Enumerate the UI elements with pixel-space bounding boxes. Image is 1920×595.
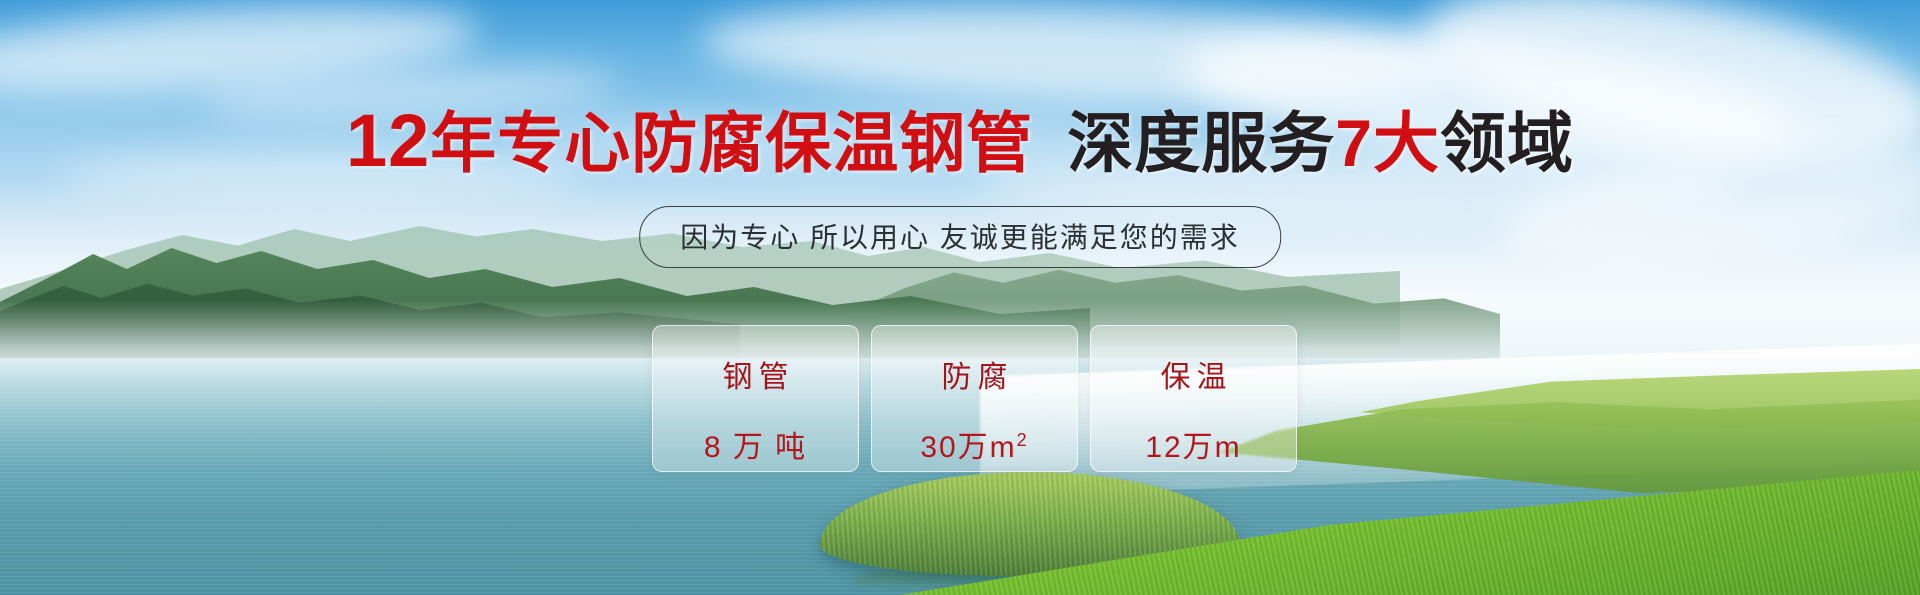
stat-cards: 钢管 8 万 吨 防腐 30万m2 保温 12万m: [652, 325, 1297, 472]
stat-card-title: 保温: [1155, 352, 1233, 396]
stat-card-value-exponent: 2: [1017, 430, 1029, 450]
headline-part1: 年专心防腐保温钢管: [430, 106, 1033, 180]
stat-card-anticorrosion[interactable]: 防腐 30万m2: [871, 325, 1078, 472]
stat-card-title: 钢管: [717, 352, 795, 396]
headline-years-number: 12: [346, 99, 430, 182]
stat-card-value: 8 万 吨: [704, 422, 807, 466]
promo-banner: 12年专心防腐保温钢管深度服务7大领域 因为专心 所以用心 友诚更能满足您的需求…: [0, 0, 1920, 595]
headline: 12年专心防腐保温钢管深度服务7大领域: [0, 90, 1920, 186]
headline-part2: 深度服务: [1067, 106, 1335, 180]
headline-part3: 领域: [1440, 106, 1574, 180]
stat-card-title: 防腐: [936, 352, 1014, 396]
stat-card-insulation[interactable]: 保温 12万m: [1090, 325, 1297, 472]
stat-card-value: 12万m: [1145, 422, 1241, 466]
headline-highlight: 7大: [1335, 106, 1440, 180]
stat-card-value-text: 30万m: [920, 431, 1016, 464]
stat-card-value-text: 8 万 吨: [704, 431, 807, 464]
subtitle-pill: 因为专心 所以用心 友诚更能满足您的需求: [639, 206, 1281, 268]
stat-card-value: 30万m2: [920, 422, 1028, 466]
stat-card-steel-pipe[interactable]: 钢管 8 万 吨: [652, 325, 859, 472]
banner-content: 12年专心防腐保温钢管深度服务7大领域 因为专心 所以用心 友诚更能满足您的需求…: [0, 0, 1920, 595]
stat-card-value-text: 12万m: [1145, 431, 1241, 464]
